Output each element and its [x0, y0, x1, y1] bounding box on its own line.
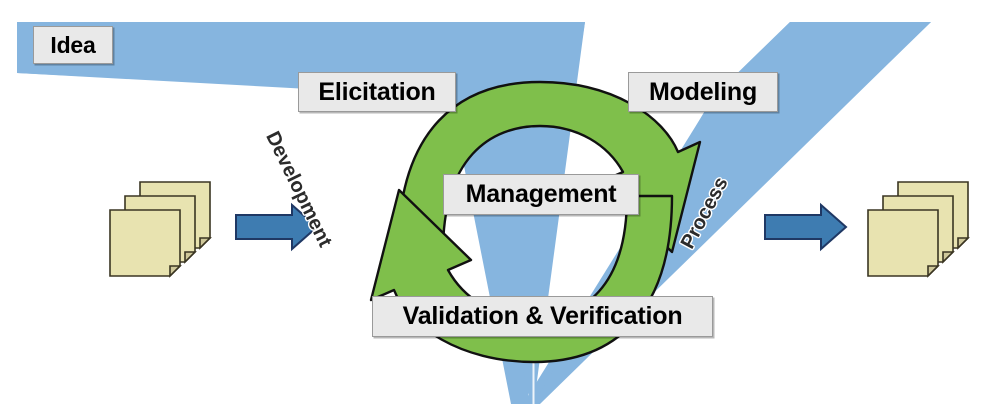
plate-elicitation[interactable]: Elicitation: [298, 72, 456, 112]
output-flow-arrow: [765, 205, 846, 249]
plate-management[interactable]: Management: [443, 174, 639, 215]
plate-validation-verification[interactable]: Validation & Verification: [372, 296, 713, 337]
plate-idea[interactable]: Idea: [33, 26, 113, 64]
diagram-canvas: Idea Elicitation Modeling Management Val…: [0, 0, 982, 416]
output-document-stack: [868, 182, 968, 276]
input-document-stack: [110, 182, 210, 276]
plate-modeling[interactable]: Modeling: [628, 72, 778, 112]
